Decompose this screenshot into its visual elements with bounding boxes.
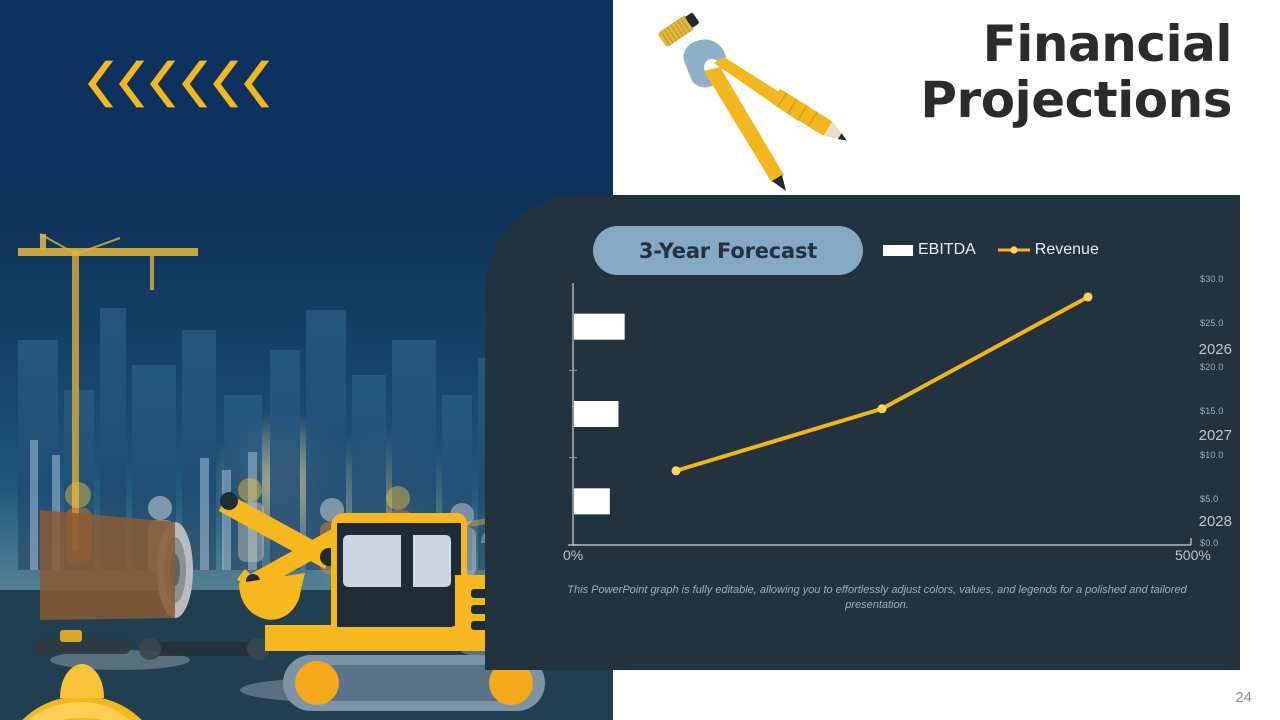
y-tick-2027: 2027 bbox=[1162, 427, 1232, 444]
chevron-left-icon bbox=[88, 58, 117, 110]
r-tick-5: $5.0 bbox=[1200, 494, 1260, 504]
bar-2027 bbox=[574, 401, 618, 427]
chevron-left-icon bbox=[182, 58, 211, 110]
chevron-left-icon bbox=[244, 58, 273, 110]
x-tick-max: 500% bbox=[1175, 547, 1211, 563]
revenue-line bbox=[676, 297, 1088, 471]
revenue-point-2027 bbox=[878, 404, 887, 413]
r-tick-10: $10.0 bbox=[1200, 450, 1260, 460]
y-tick-2028: 2028 bbox=[1162, 513, 1232, 530]
x-tick-min: 0% bbox=[563, 547, 583, 563]
r-tick-25: $25.0 bbox=[1200, 318, 1260, 328]
r-tick-0: $0.0 bbox=[1200, 538, 1260, 548]
bar-2028 bbox=[574, 314, 625, 340]
page-title: Financial Projections bbox=[672, 16, 1232, 128]
chevron-left-icon bbox=[213, 58, 242, 110]
revenue-point-2026 bbox=[672, 466, 681, 475]
r-tick-15: $15.0 bbox=[1200, 406, 1260, 416]
plot-area: 2028 2027 2026 0% 500% $0.0 $5.0 $10.0 $… bbox=[485, 195, 1240, 670]
chevron-group bbox=[88, 58, 273, 110]
y-tick-2026: 2026 bbox=[1162, 341, 1232, 358]
chevron-left-icon bbox=[150, 58, 179, 110]
r-tick-20: $20.0 bbox=[1200, 362, 1260, 372]
bar-2026 bbox=[574, 488, 610, 514]
chevron-left-icon bbox=[119, 58, 148, 110]
page-number: 24 bbox=[1235, 689, 1252, 706]
slide: Financial Projections 3-Year Forecast EB… bbox=[0, 0, 1280, 720]
hard-hat-icon bbox=[0, 640, 175, 720]
chart-panel: 3-Year Forecast EBITDA Revenue 2028 2027… bbox=[485, 195, 1240, 670]
revenue-point-2028 bbox=[1084, 292, 1093, 301]
r-tick-30: $30.0 bbox=[1200, 274, 1260, 284]
chart-caption: This PowerPoint graph is fully editable,… bbox=[547, 583, 1207, 613]
